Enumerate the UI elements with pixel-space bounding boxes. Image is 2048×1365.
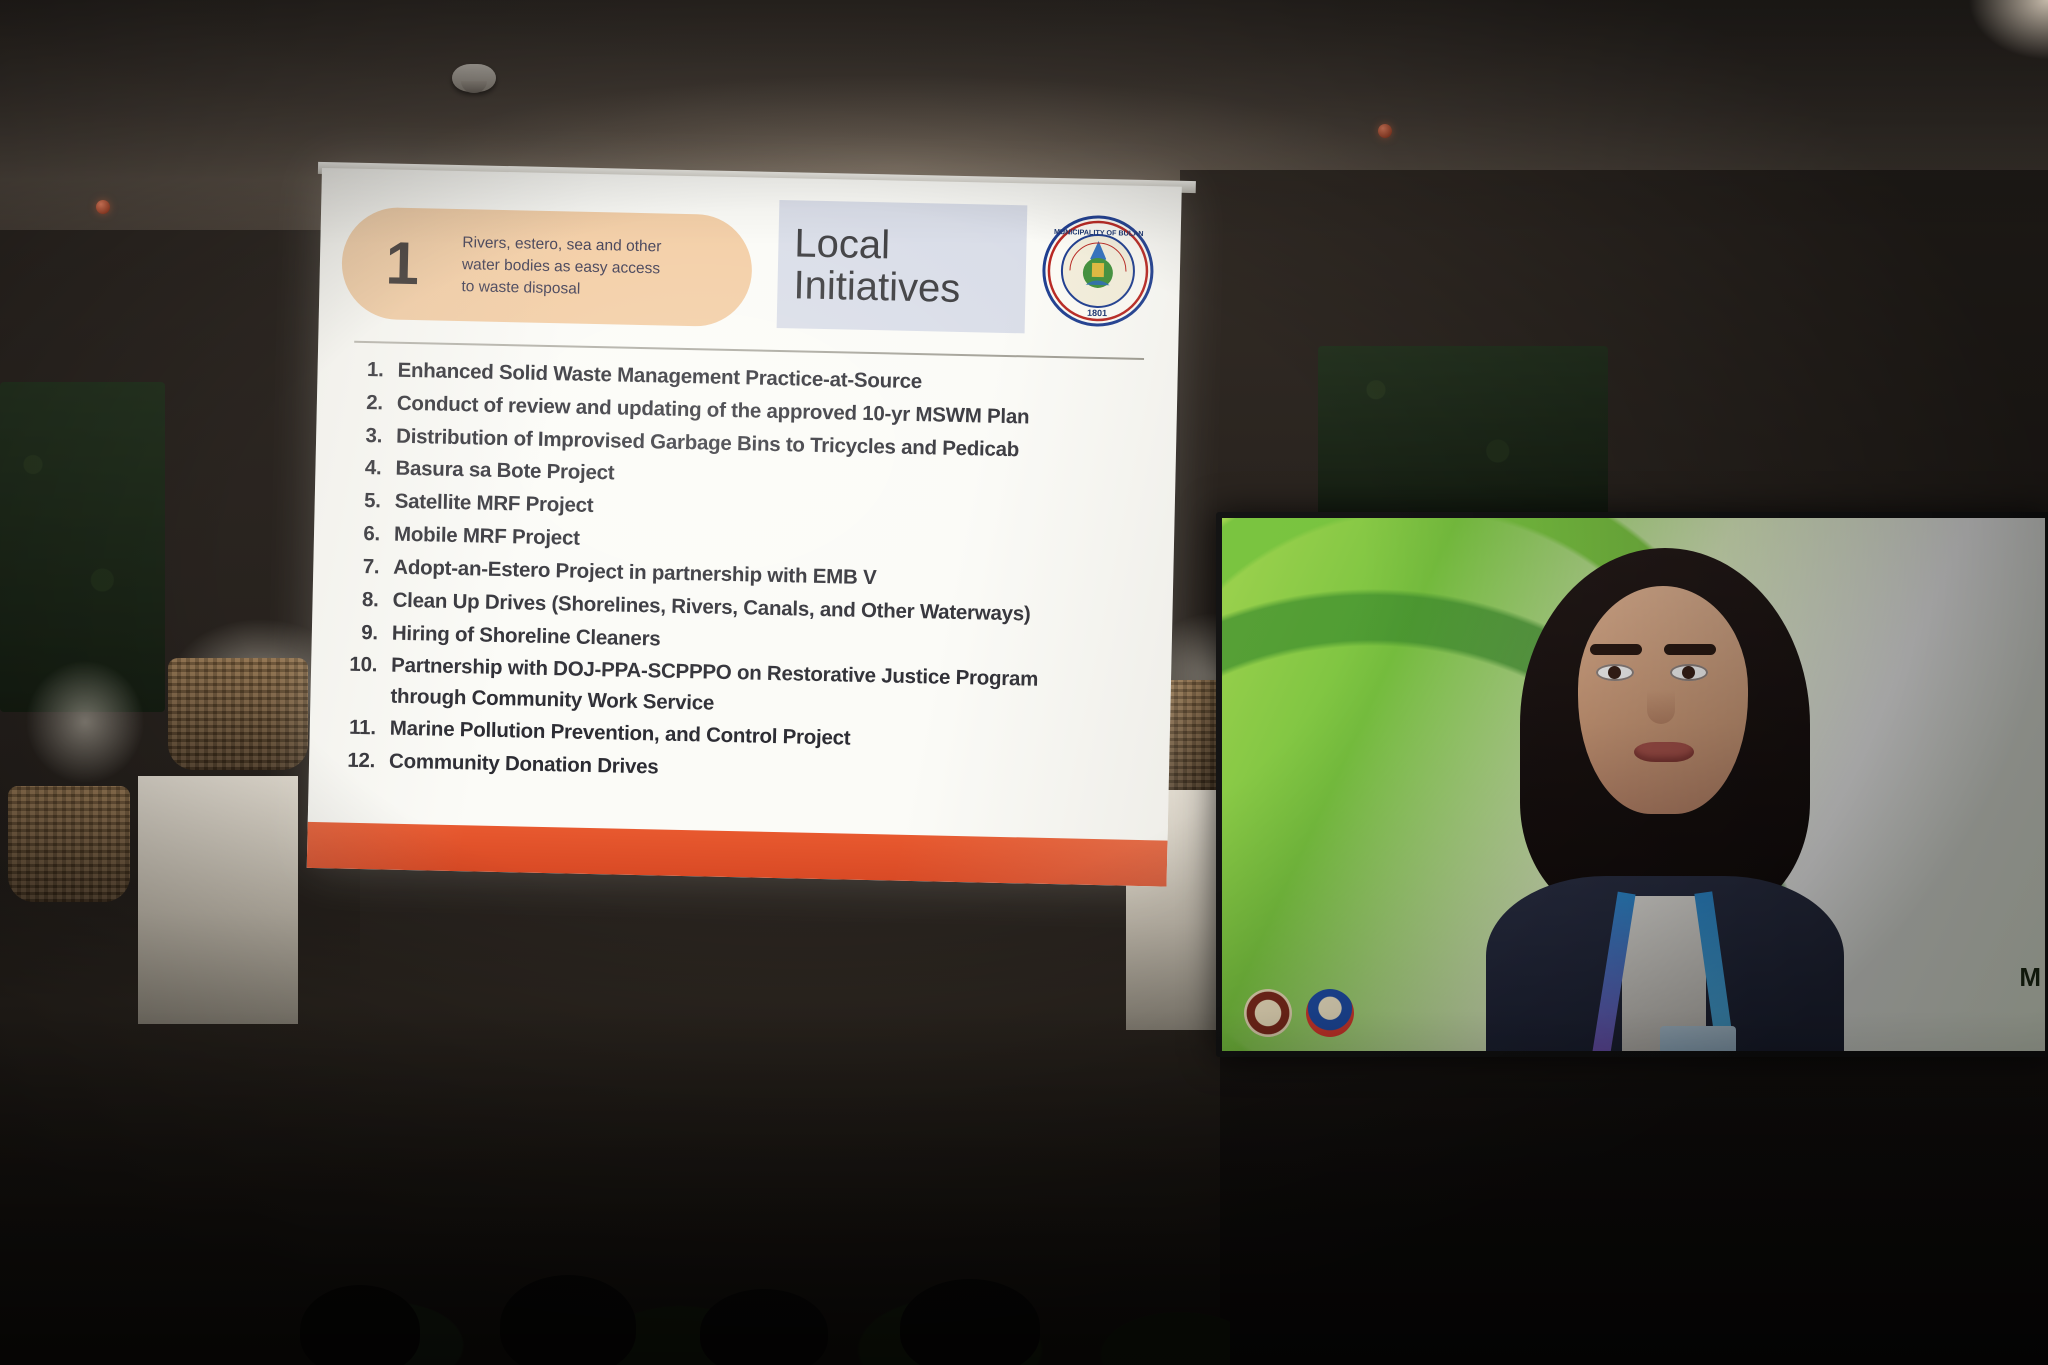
list-item-text: Hiring of Shoreline Cleaners (392, 622, 1156, 660)
list-item-text-main: Partnership with DOJ-PPA-SCPPPO on Resto… (391, 654, 1038, 691)
list-item-text: Clean Up Drives (Shorelines, Rivers, Can… (392, 589, 1156, 627)
list-item: 2. Conduct of review and updating of the… (341, 391, 1161, 430)
list-item-text: Enhanced Solid Waste Management Practice… (397, 360, 1161, 398)
list-item-text: Marine Pollution Prevention, and Control… (390, 718, 1154, 756)
slide-title-line2: Initiatives (793, 264, 1026, 311)
speaker-mouth (1634, 742, 1694, 762)
list-item: 8. Clean Up Drives (Shorelines, Rivers, … (336, 588, 1156, 627)
tv-monitor: M (1216, 512, 2048, 1057)
list-item-text: Partnership with DOJ-PPA-SCPPPO on Resto… (390, 655, 1155, 723)
audience-head (300, 1285, 420, 1365)
ceiling-indicator-light-right (1378, 124, 1392, 138)
badge-number: 1 (341, 232, 462, 295)
list-item: 3. Distribution of Improvised Garbage Bi… (340, 424, 1160, 463)
list-item-index: 8. (336, 588, 392, 611)
list-item: 6. Mobile MRF Project (338, 523, 1158, 562)
speaker-id-badge (1660, 1026, 1736, 1057)
tv-edge-label: M (2019, 962, 2041, 993)
municipal-seal-icon: MUNICIPALITY OF BULAN 1801 (1041, 214, 1155, 328)
list-item: 4. Basura sa Bote Project (339, 457, 1159, 496)
list-item-index: 4. (339, 457, 395, 480)
list-item-text: Mobile MRF Project (394, 524, 1158, 562)
list-item-index: 6. (338, 523, 394, 546)
list-item: 10. Partnership with DOJ-PPA-SCPPPO on R… (334, 654, 1155, 724)
list-item-continuation: through Community Work Service (390, 685, 1154, 723)
badge-pill: 1 Rivers, estero, sea and other water bo… (341, 206, 753, 327)
speaker-eyebrow-right (1664, 644, 1716, 655)
list-item-text: Basura sa Bote Project (395, 458, 1159, 496)
list-item-index: 5. (339, 490, 395, 513)
audience-head (700, 1289, 828, 1365)
list-item-index: 3. (340, 424, 396, 447)
projection-screen: 1 Rivers, estero, sea and other water bo… (306, 168, 1191, 907)
list-item-text: Distribution of Improvised Garbage Bins … (396, 425, 1160, 463)
ceiling-indicator-light-left (96, 200, 110, 214)
list-item: 12. Community Donation Drives (333, 750, 1153, 789)
speaker-eye-right (1670, 664, 1708, 681)
speaker-nose (1647, 690, 1675, 724)
seal-year-text: 1801 (1087, 308, 1107, 318)
list-item-index: 11. (334, 717, 390, 740)
list-item: 7. Adopt-an-Estero Project in partnershi… (337, 555, 1157, 594)
tv-national-seal-icon (1306, 989, 1354, 1037)
list-item-index: 7. (337, 555, 393, 578)
slide-header: 1 Rivers, estero, sea and other water bo… (319, 184, 1182, 343)
corner-light-glare (1968, 0, 2048, 60)
list-item-index: 1. (341, 358, 397, 381)
smoke-detector-icon (452, 64, 496, 92)
list-item-text: Adopt-an-Estero Project in partnership w… (393, 557, 1157, 595)
list-item-index: 2. (341, 391, 397, 414)
speaker-eye-left (1596, 664, 1634, 681)
speaker-portrait (1472, 540, 1852, 1057)
speaker-eyebrow-left (1590, 644, 1642, 655)
audience-head (500, 1275, 636, 1365)
header-divider (354, 341, 1144, 360)
list-item: 11. Marine Pollution Prevention, and Con… (334, 717, 1154, 756)
hedge-panel-right (1318, 346, 1608, 521)
tv-agency-seal-icon (1244, 989, 1292, 1037)
list-item: 9. Hiring of Shoreline Cleaners (336, 621, 1156, 660)
list-item-index: 12. (333, 750, 389, 773)
slide-title-box: Local Initiatives (777, 200, 1028, 333)
list-item: 5. Satellite MRF Project (339, 490, 1159, 529)
initiatives-list: 1. Enhanced Solid Waste Management Pract… (333, 358, 1162, 800)
presentation-slide: 1 Rivers, estero, sea and other water bo… (307, 168, 1182, 887)
tv-screen: M (1222, 518, 2045, 1051)
woven-basket-far-left (8, 786, 130, 902)
badge-description: Rivers, estero, sea and other water bodi… (461, 232, 672, 303)
list-item-text: Satellite MRF Project (395, 491, 1159, 529)
audience-head (900, 1279, 1040, 1365)
seal-top-text: MUNICIPALITY OF BULAN (1054, 227, 1144, 238)
list-item-index: 9. (336, 621, 392, 644)
list-item: 1. Enhanced Solid Waste Management Pract… (341, 358, 1161, 397)
woven-basket-left (168, 658, 308, 770)
slide-title-line1: Local (794, 222, 1027, 269)
list-item-text: Community Donation Drives (389, 751, 1153, 789)
list-item-index: 10. (335, 654, 391, 677)
list-item-text: Conduct of review and updating of the ap… (397, 393, 1161, 431)
